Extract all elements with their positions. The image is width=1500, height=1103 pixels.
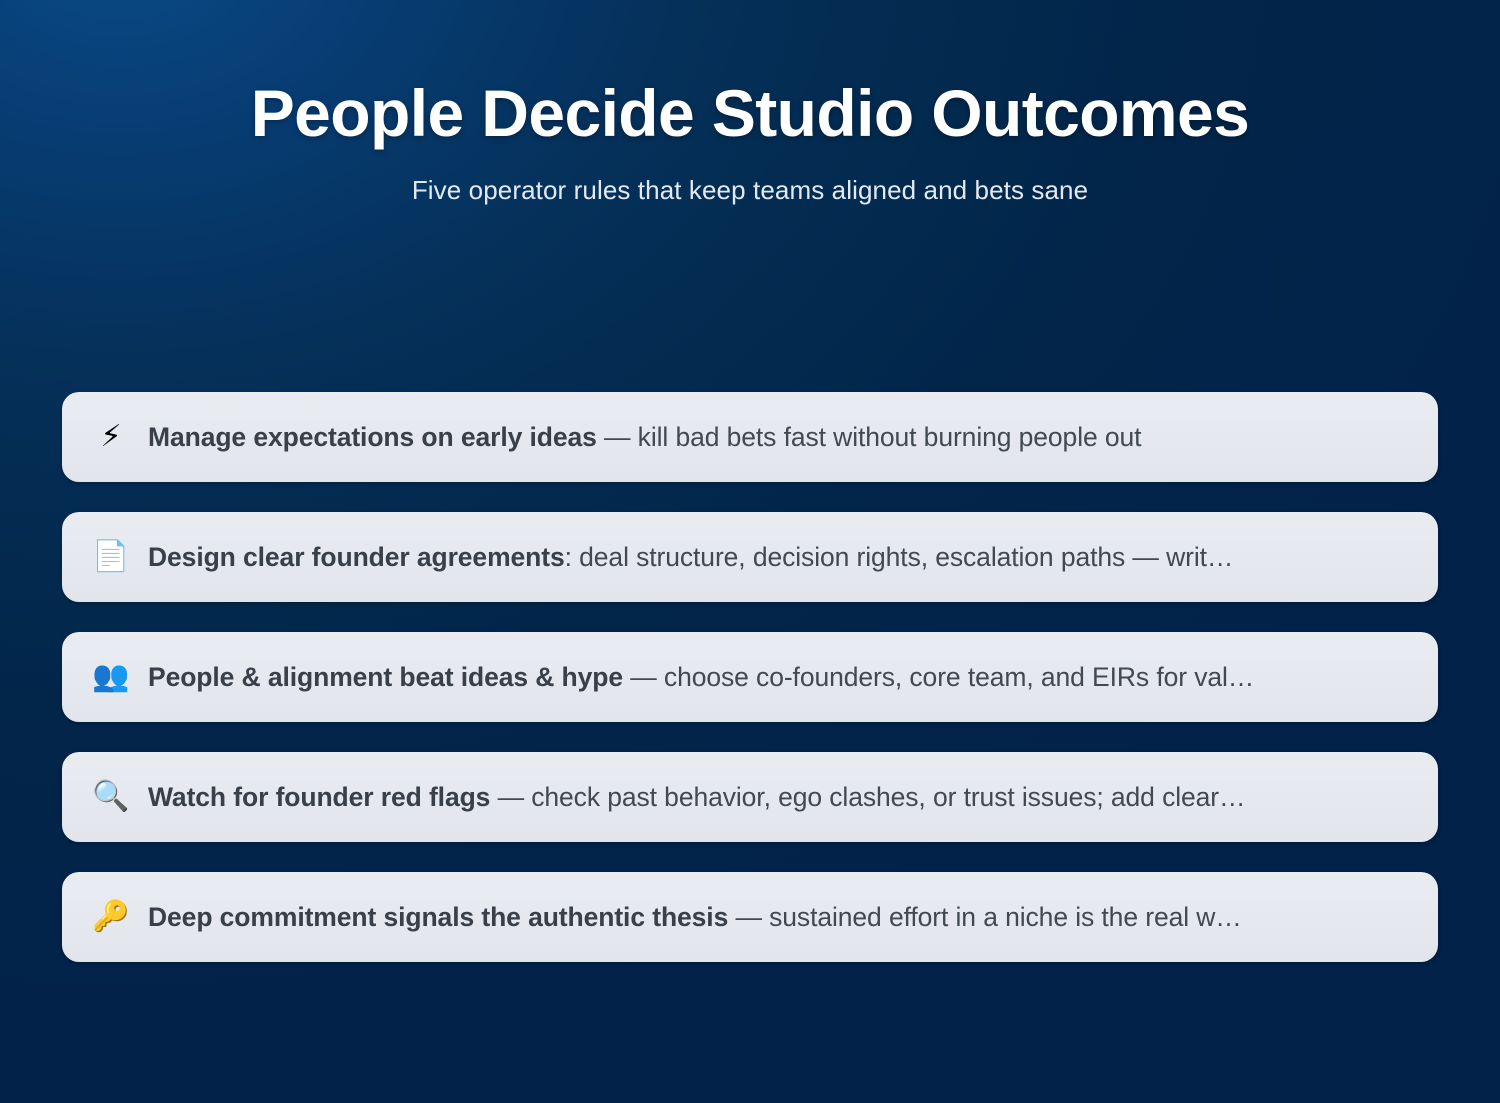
rule-card[interactable]: ⚡Manage expectations on early ideas — ki… — [62, 392, 1438, 482]
page-document-icon: 📄 — [88, 542, 134, 572]
rule-lead: People & alignment beat ideas & hype — [148, 662, 623, 692]
busts-in-silhouette-icon: 👥 — [88, 662, 134, 692]
rule-lead: Watch for founder red flags — [148, 782, 490, 812]
rule-card[interactable]: 📄Design clear founder agreements: deal s… — [62, 512, 1438, 602]
rule-detail: — kill bad bets fast without burning peo… — [597, 422, 1142, 452]
rule-detail: — sustained effort in a niche is the rea… — [728, 902, 1242, 932]
rule-detail: — choose co-founders, core team, and EIR… — [623, 662, 1254, 692]
magnifying-glass-icon: 🔍 — [88, 782, 134, 812]
rules-list: ⚡Manage expectations on early ideas — ki… — [62, 392, 1438, 962]
page-title: People Decide Studio Outcomes — [0, 78, 1500, 149]
rule-detail: : deal structure, decision rights, escal… — [565, 542, 1234, 572]
rule-text: Manage expectations on early ideas — kil… — [148, 422, 1412, 453]
rule-text: Design clear founder agreements: deal st… — [148, 542, 1412, 573]
rule-detail: — check past behavior, ego clashes, or t… — [490, 782, 1245, 812]
rule-card[interactable]: 🔑Deep commitment signals the authentic t… — [62, 872, 1438, 962]
rule-text: Deep commitment signals the authentic th… — [148, 902, 1412, 933]
rule-lead: Deep commitment signals the authentic th… — [148, 902, 728, 932]
page-subtitle: Five operator rules that keep teams alig… — [0, 175, 1500, 206]
slide-root: People Decide Studio Outcomes Five opera… — [0, 0, 1500, 1103]
rule-card[interactable]: 🔍Watch for founder red flags — check pas… — [62, 752, 1438, 842]
rule-card[interactable]: 👥People & alignment beat ideas & hype — … — [62, 632, 1438, 722]
slide-header: People Decide Studio Outcomes Five opera… — [0, 0, 1500, 206]
key-icon: 🔑 — [88, 902, 134, 932]
rule-text: Watch for founder red flags — check past… — [148, 782, 1412, 813]
rule-text: People & alignment beat ideas & hype — c… — [148, 662, 1412, 693]
rule-lead: Manage expectations on early ideas — [148, 422, 597, 452]
lightning-bolt-icon: ⚡ — [88, 422, 134, 452]
rule-lead: Design clear founder agreements — [148, 542, 565, 572]
